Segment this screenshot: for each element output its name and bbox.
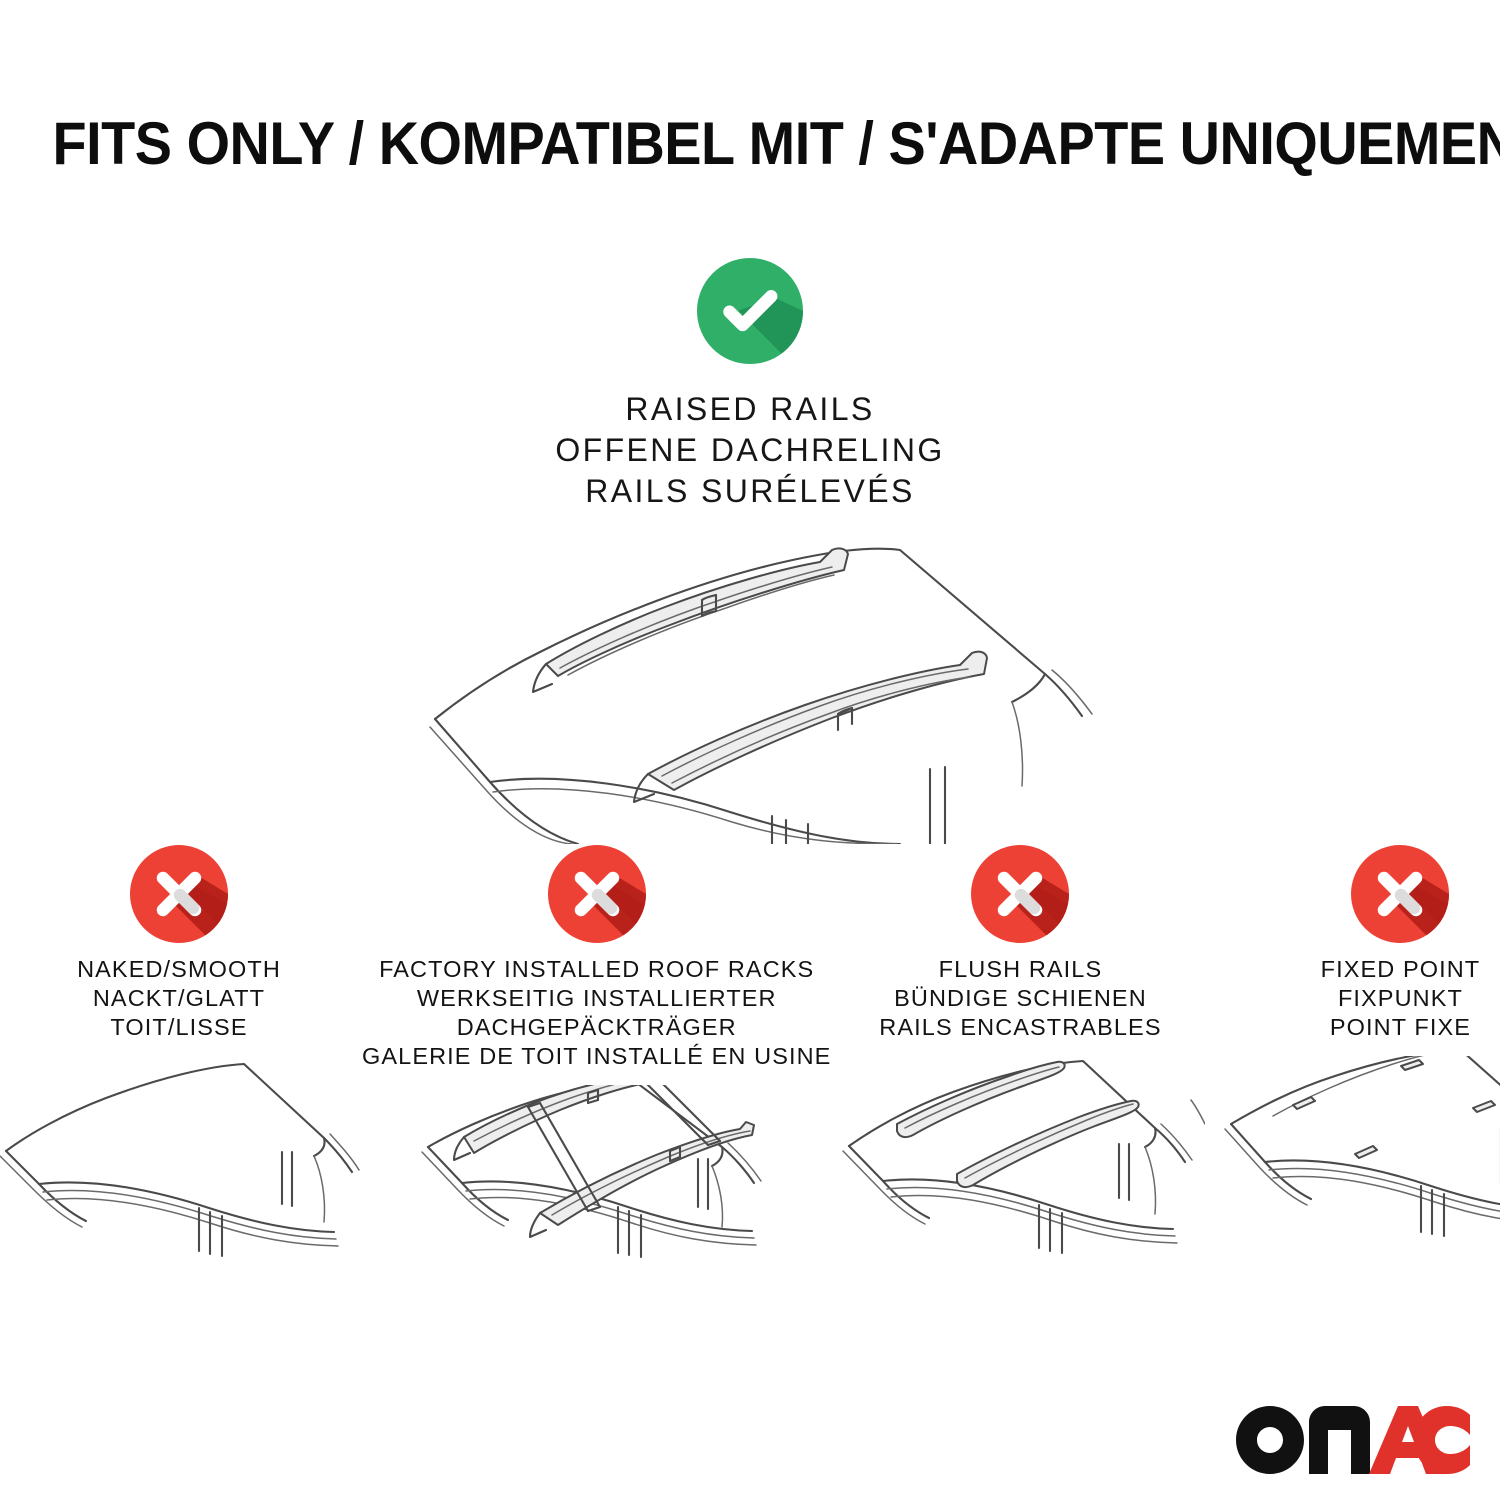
label-line-1: FLUSH RAILS bbox=[879, 955, 1161, 984]
cross-circle-icon bbox=[1351, 845, 1449, 943]
label-line-1: FACTORY INSTALLED ROOF RACKS bbox=[362, 955, 831, 984]
label-line-2: FIXPUNKT bbox=[1321, 984, 1481, 1013]
omac-logo bbox=[1236, 1406, 1470, 1474]
label-line-2: WERKSEITIG INSTALLIERTER bbox=[362, 984, 831, 1013]
compatible-section: RAISED RAILS OFFENE DACHRELING RAILS SUR… bbox=[0, 258, 1500, 844]
compatible-label: RAISED RAILS OFFENE DACHRELING RAILS SUR… bbox=[555, 389, 944, 512]
cross-circle-icon bbox=[971, 845, 1069, 943]
compatible-label-line-2: OFFENE DACHRELING bbox=[555, 430, 944, 471]
car-roof-factory-racks-illustration bbox=[412, 1085, 782, 1300]
check-circle-icon bbox=[697, 258, 803, 364]
car-roof-flush-rails-illustration bbox=[835, 1056, 1205, 1271]
incompatible-label-naked-smooth: NAKED/SMOOTH NACKT/GLATT TOIT/LISSE bbox=[77, 955, 281, 1042]
label-line-4: GALERIE DE TOIT INSTALLÉ EN USINE bbox=[362, 1042, 831, 1071]
label-line-3: DACHGEPÄCKTRÄGER bbox=[362, 1013, 831, 1042]
page-title: FITS ONLY / KOMPATIBEL MIT / S'ADAPTE UN… bbox=[53, 108, 1448, 180]
incompatible-label-fixed-point: FIXED POINT FIXPUNKT POINT FIXE bbox=[1321, 955, 1481, 1042]
label-line-2: BÜNDIGE SCHIENEN bbox=[879, 984, 1161, 1013]
incompatible-label-flush-rails: FLUSH RAILS BÜNDIGE SCHIENEN RAILS ENCAS… bbox=[879, 955, 1161, 1042]
cross-circle-icon bbox=[548, 845, 646, 943]
compatible-label-line-1: RAISED RAILS bbox=[555, 389, 944, 430]
incompatible-section: NAKED/SMOOTH NACKT/GLATT TOIT/LISSE bbox=[0, 845, 1500, 1300]
car-roof-fixed-point-illustration bbox=[1215, 1056, 1500, 1271]
label-line-1: NAKED/SMOOTH bbox=[77, 955, 281, 984]
incompatible-item-fixed-point: FIXED POINT FIXPUNKT POINT FIXE bbox=[1215, 845, 1500, 1271]
incompatible-item-naked-smooth: NAKED/SMOOTH NACKT/GLATT TOIT/LISSE bbox=[0, 845, 364, 1271]
cross-circle-icon bbox=[130, 845, 228, 943]
incompatible-item-flush-rails: FLUSH RAILS BÜNDIGE SCHIENEN RAILS ENCAS… bbox=[835, 845, 1205, 1271]
label-line-3: RAILS ENCASTRABLES bbox=[879, 1013, 1161, 1042]
label-line-3: POINT FIXE bbox=[1321, 1013, 1481, 1042]
label-line-1: FIXED POINT bbox=[1321, 955, 1481, 984]
label-line-3: TOIT/LISSE bbox=[77, 1013, 281, 1042]
label-line-2: NACKT/GLATT bbox=[77, 984, 281, 1013]
compatible-label-line-3: RAILS SURÉLEVÉS bbox=[555, 471, 944, 512]
fitment-infographic: FITS ONLY / KOMPATIBEL MIT / S'ADAPTE UN… bbox=[0, 0, 1500, 1500]
incompatible-label-factory-racks: FACTORY INSTALLED ROOF RACKS WERKSEITIG … bbox=[362, 955, 831, 1071]
car-roof-raised-rails-illustration bbox=[400, 524, 1100, 844]
car-roof-naked-smooth-illustration bbox=[0, 1056, 364, 1271]
incompatible-item-factory-racks: FACTORY INSTALLED ROOF RACKS WERKSEITIG … bbox=[362, 845, 831, 1300]
